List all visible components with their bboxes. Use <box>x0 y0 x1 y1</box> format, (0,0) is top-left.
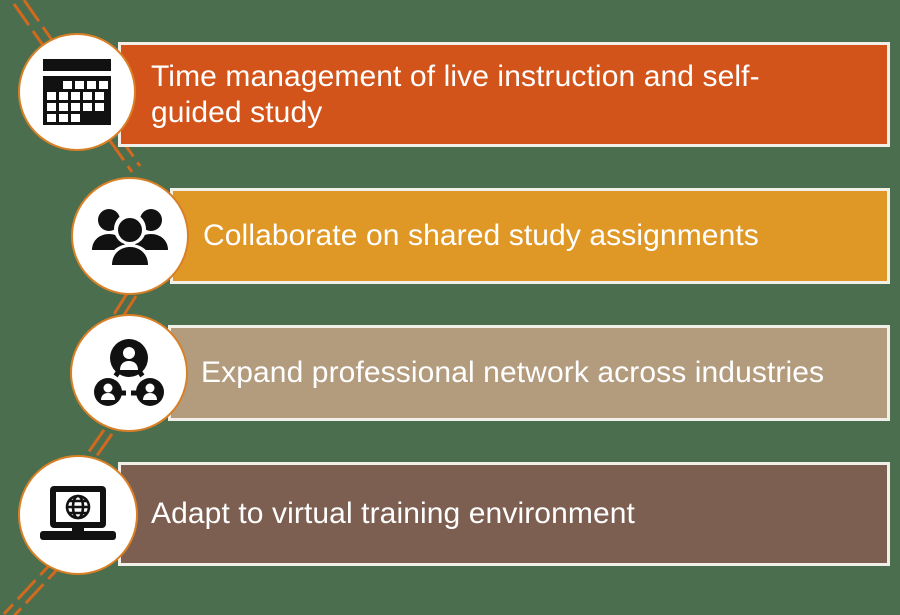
item-icon-badge[interactable] <box>18 33 136 151</box>
item-bar[interactable]: Time management of live instruction and … <box>118 42 890 147</box>
group-people-icon <box>92 206 168 266</box>
item-label: Time management of live instruction and … <box>151 59 847 130</box>
laptop-globe-icon <box>38 486 118 544</box>
item-bar[interactable]: Adapt to virtual training environment <box>118 462 890 566</box>
item-icon-badge[interactable] <box>70 314 188 432</box>
item-bar[interactable]: Expand professional network across indus… <box>168 325 890 421</box>
infographic-diagram: Time management of live instruction and … <box>0 0 900 615</box>
item-label: Collaborate on shared study assignments <box>203 218 759 253</box>
item-label: Adapt to virtual training environment <box>151 496 635 531</box>
item-label: Expand professional network across indus… <box>201 355 824 390</box>
item-icon-badge[interactable] <box>18 455 138 575</box>
calendar-icon <box>41 57 113 127</box>
network-people-icon <box>94 339 164 407</box>
item-icon-badge[interactable] <box>71 177 189 295</box>
item-bar[interactable]: Collaborate on shared study assignments <box>170 188 890 284</box>
